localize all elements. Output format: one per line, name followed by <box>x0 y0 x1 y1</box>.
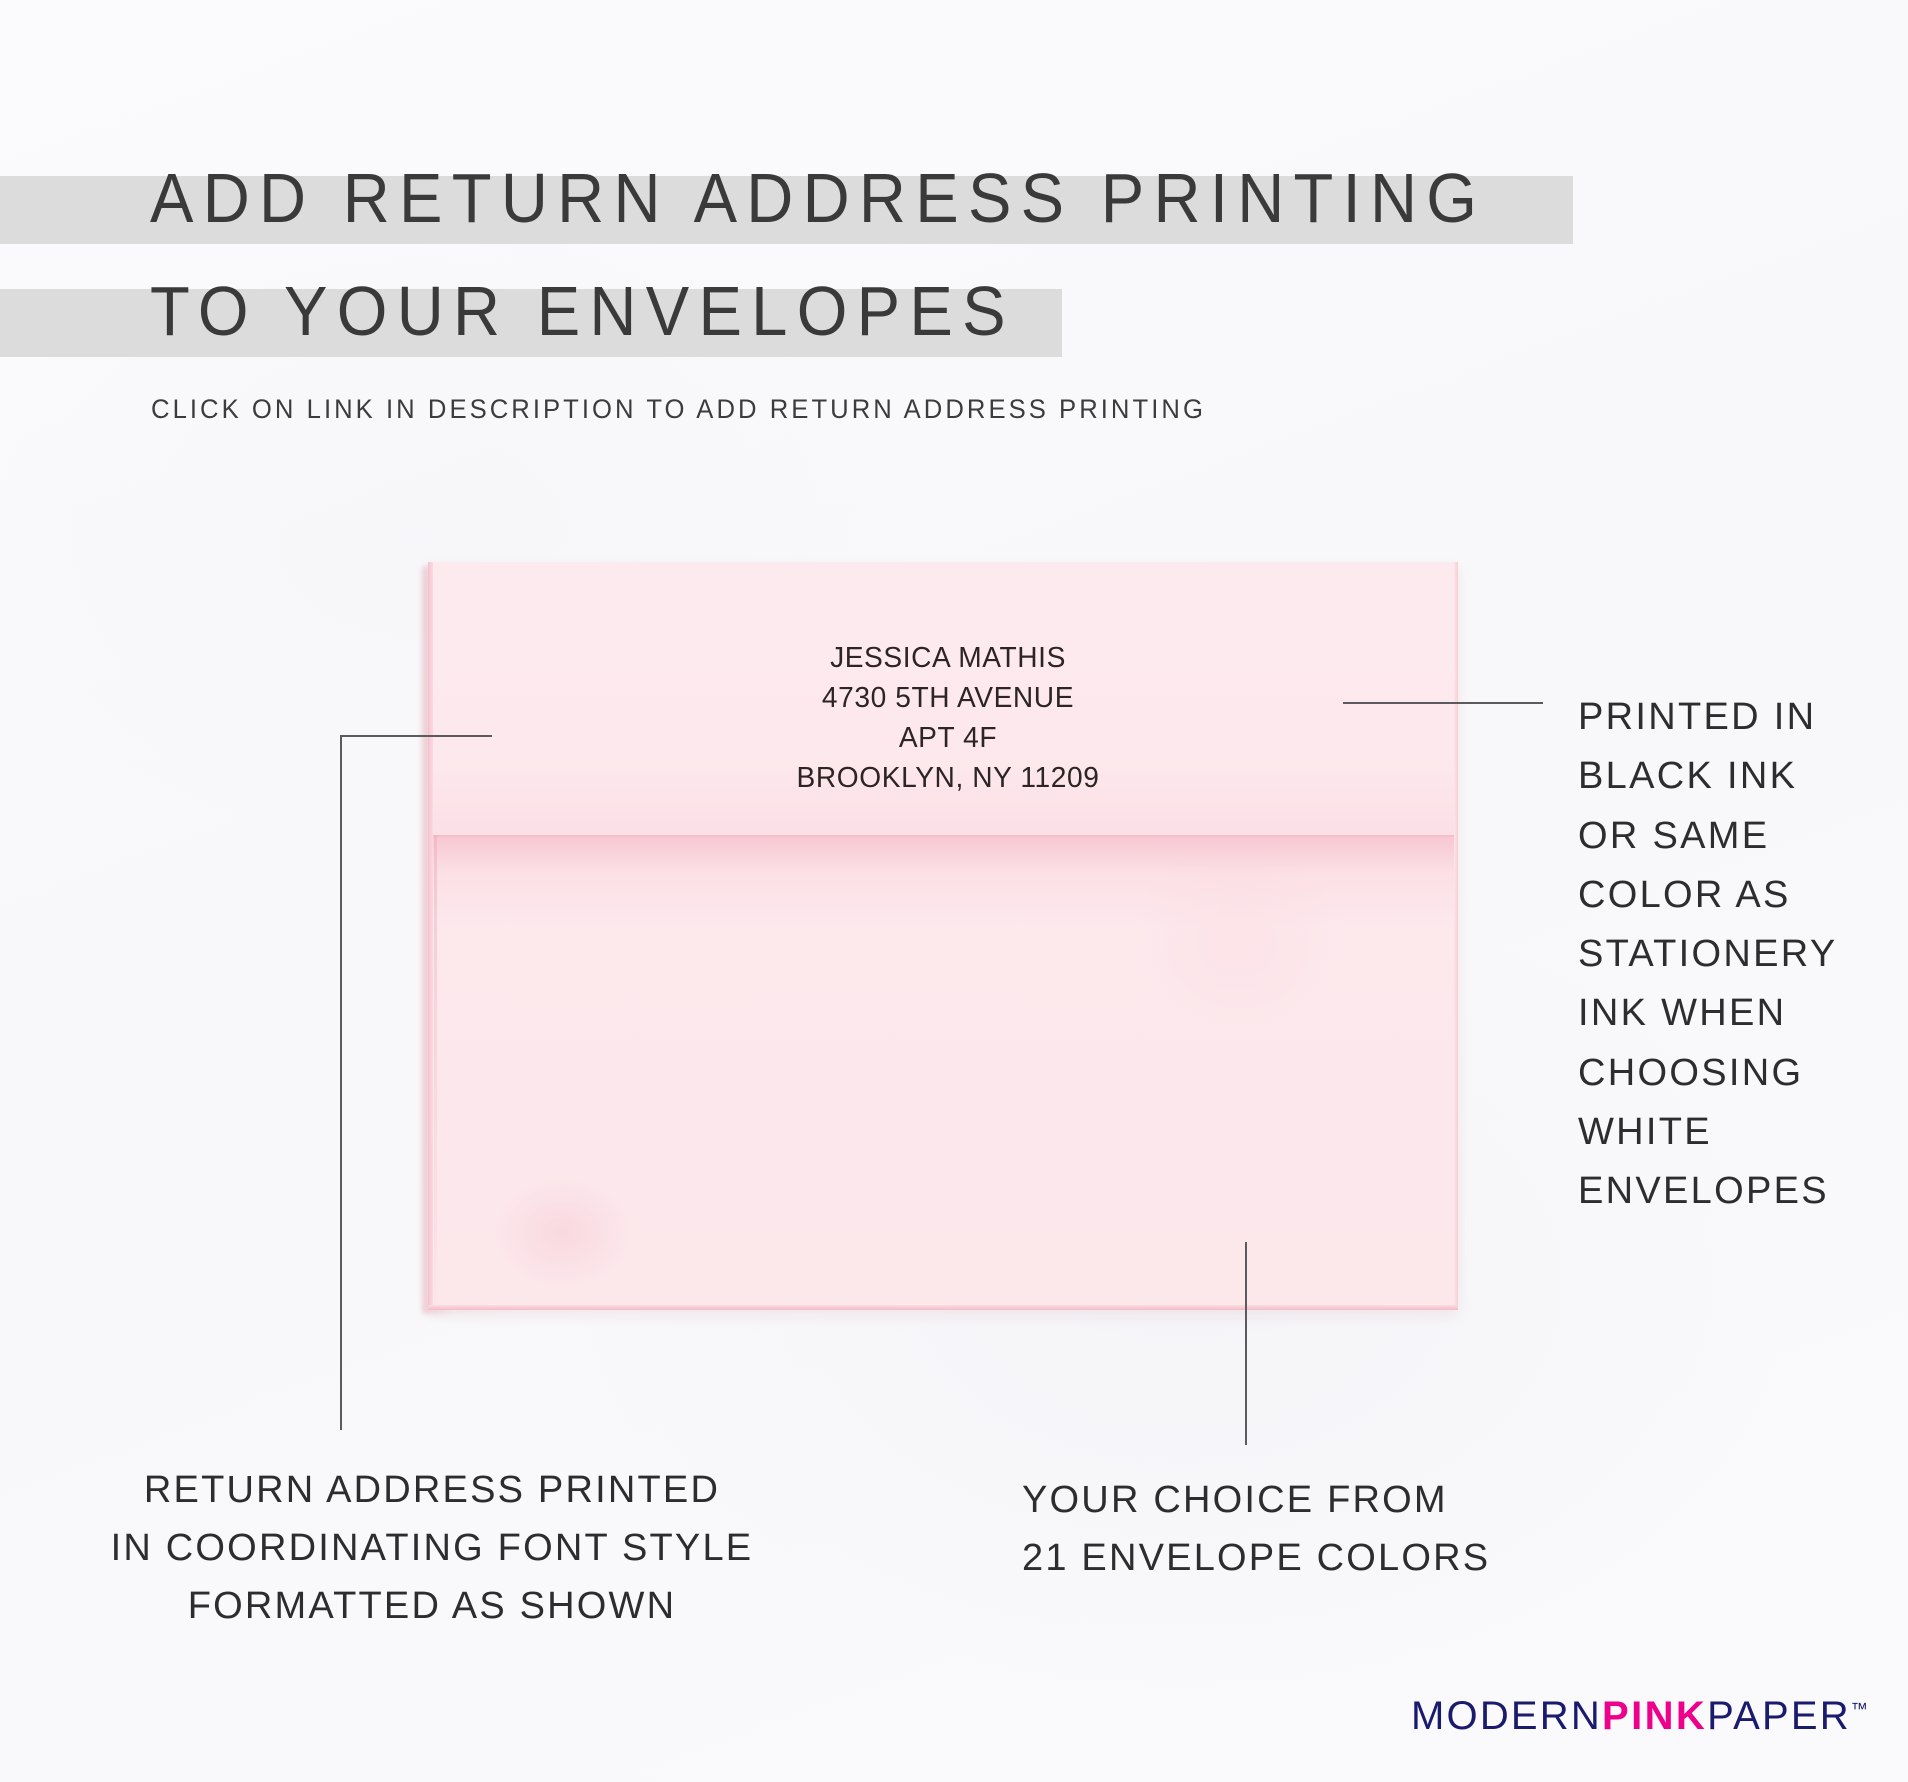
annotation-right-line-8: WHITE <box>1578 1103 1888 1162</box>
envelope-right-edge <box>1454 562 1458 1310</box>
annotation-bottom-center-line-1: YOUR CHOICE FROM <box>1022 1472 1582 1530</box>
page-subtitle: CLICK ON LINK IN DESCRIPTION TO ADD RETU… <box>151 394 1206 425</box>
envelope-left-seam <box>434 835 437 1310</box>
annotation-right-line-3: OR SAME <box>1578 807 1888 866</box>
marketing-graphic-canvas: ADD RETURN ADDRESS PRINTING TO YOUR ENVE… <box>0 0 1908 1782</box>
return-address-line-street: 4730 5TH AVENUE <box>589 678 1307 718</box>
annotation-right-line-9: ENVELOPES <box>1578 1162 1888 1221</box>
page-title-line-1: ADD RETURN ADDRESS PRINTING <box>150 163 1486 233</box>
annotation-bottom-left-line-1: RETURN ADDRESS PRINTED <box>52 1462 812 1520</box>
annotation-bottom-center-line-2: 21 ENVELOPE COLORS <box>1022 1530 1582 1588</box>
leader-line-font-style-horizontal <box>340 735 492 737</box>
leader-line-printed-ink <box>1343 702 1543 704</box>
annotation-bottom-left-line-3: FORMATTED AS SHOWN <box>52 1578 812 1636</box>
envelope-bottom-edge <box>428 1305 1458 1310</box>
annotation-right-line-4: COLOR AS <box>1578 866 1888 925</box>
envelope-paper-texture-emboss <box>488 1172 638 1292</box>
trademark-symbol: ™ <box>1851 1700 1869 1719</box>
return-address-line-apt: APT 4F <box>589 718 1307 758</box>
envelope-mockup: JESSICA MATHIS 4730 5TH AVENUE APT 4F BR… <box>428 562 1458 1310</box>
annotation-printed-ink: PRINTED IN BLACK INK OR SAME COLOR AS ST… <box>1578 688 1888 1221</box>
brand-logo-paper: PAPER <box>1707 1694 1851 1738</box>
return-address-line-name: JESSICA MATHIS <box>589 638 1307 678</box>
brand-logo: MODERNPINKPAPER™ <box>1411 1694 1868 1739</box>
annotation-right-line-7: CHOOSING <box>1578 1044 1888 1103</box>
printed-return-address: JESSICA MATHIS 4730 5TH AVENUE APT 4F BR… <box>589 638 1307 798</box>
return-address-line-city-state-zip: BROOKLYN, NY 11209 <box>589 758 1307 798</box>
annotation-bottom-left-line-2: IN COORDINATING FONT STYLE <box>52 1520 812 1578</box>
annotation-envelope-colors: YOUR CHOICE FROM 21 ENVELOPE COLORS <box>1022 1472 1582 1588</box>
annotation-right-line-6: INK WHEN <box>1578 984 1888 1043</box>
envelope-body: JESSICA MATHIS 4730 5TH AVENUE APT 4F BR… <box>428 562 1458 1310</box>
envelope-left-edge <box>428 562 433 1310</box>
leader-line-font-style-vertical <box>340 735 342 1430</box>
leader-line-envelope-colors <box>1245 1242 1247 1445</box>
envelope-flap-shadow <box>428 835 1458 927</box>
page-title-line-2: TO YOUR ENVELOPES <box>150 276 1015 346</box>
brand-logo-modern: MODERN <box>1411 1694 1602 1738</box>
annotation-font-style: RETURN ADDRESS PRINTED IN COORDINATING F… <box>52 1462 812 1635</box>
annotation-right-line-1: PRINTED IN <box>1578 688 1888 747</box>
annotation-right-line-5: STATIONERY <box>1578 925 1888 984</box>
annotation-right-line-2: BLACK INK <box>1578 747 1888 806</box>
brand-logo-pink: PINK <box>1602 1694 1707 1738</box>
